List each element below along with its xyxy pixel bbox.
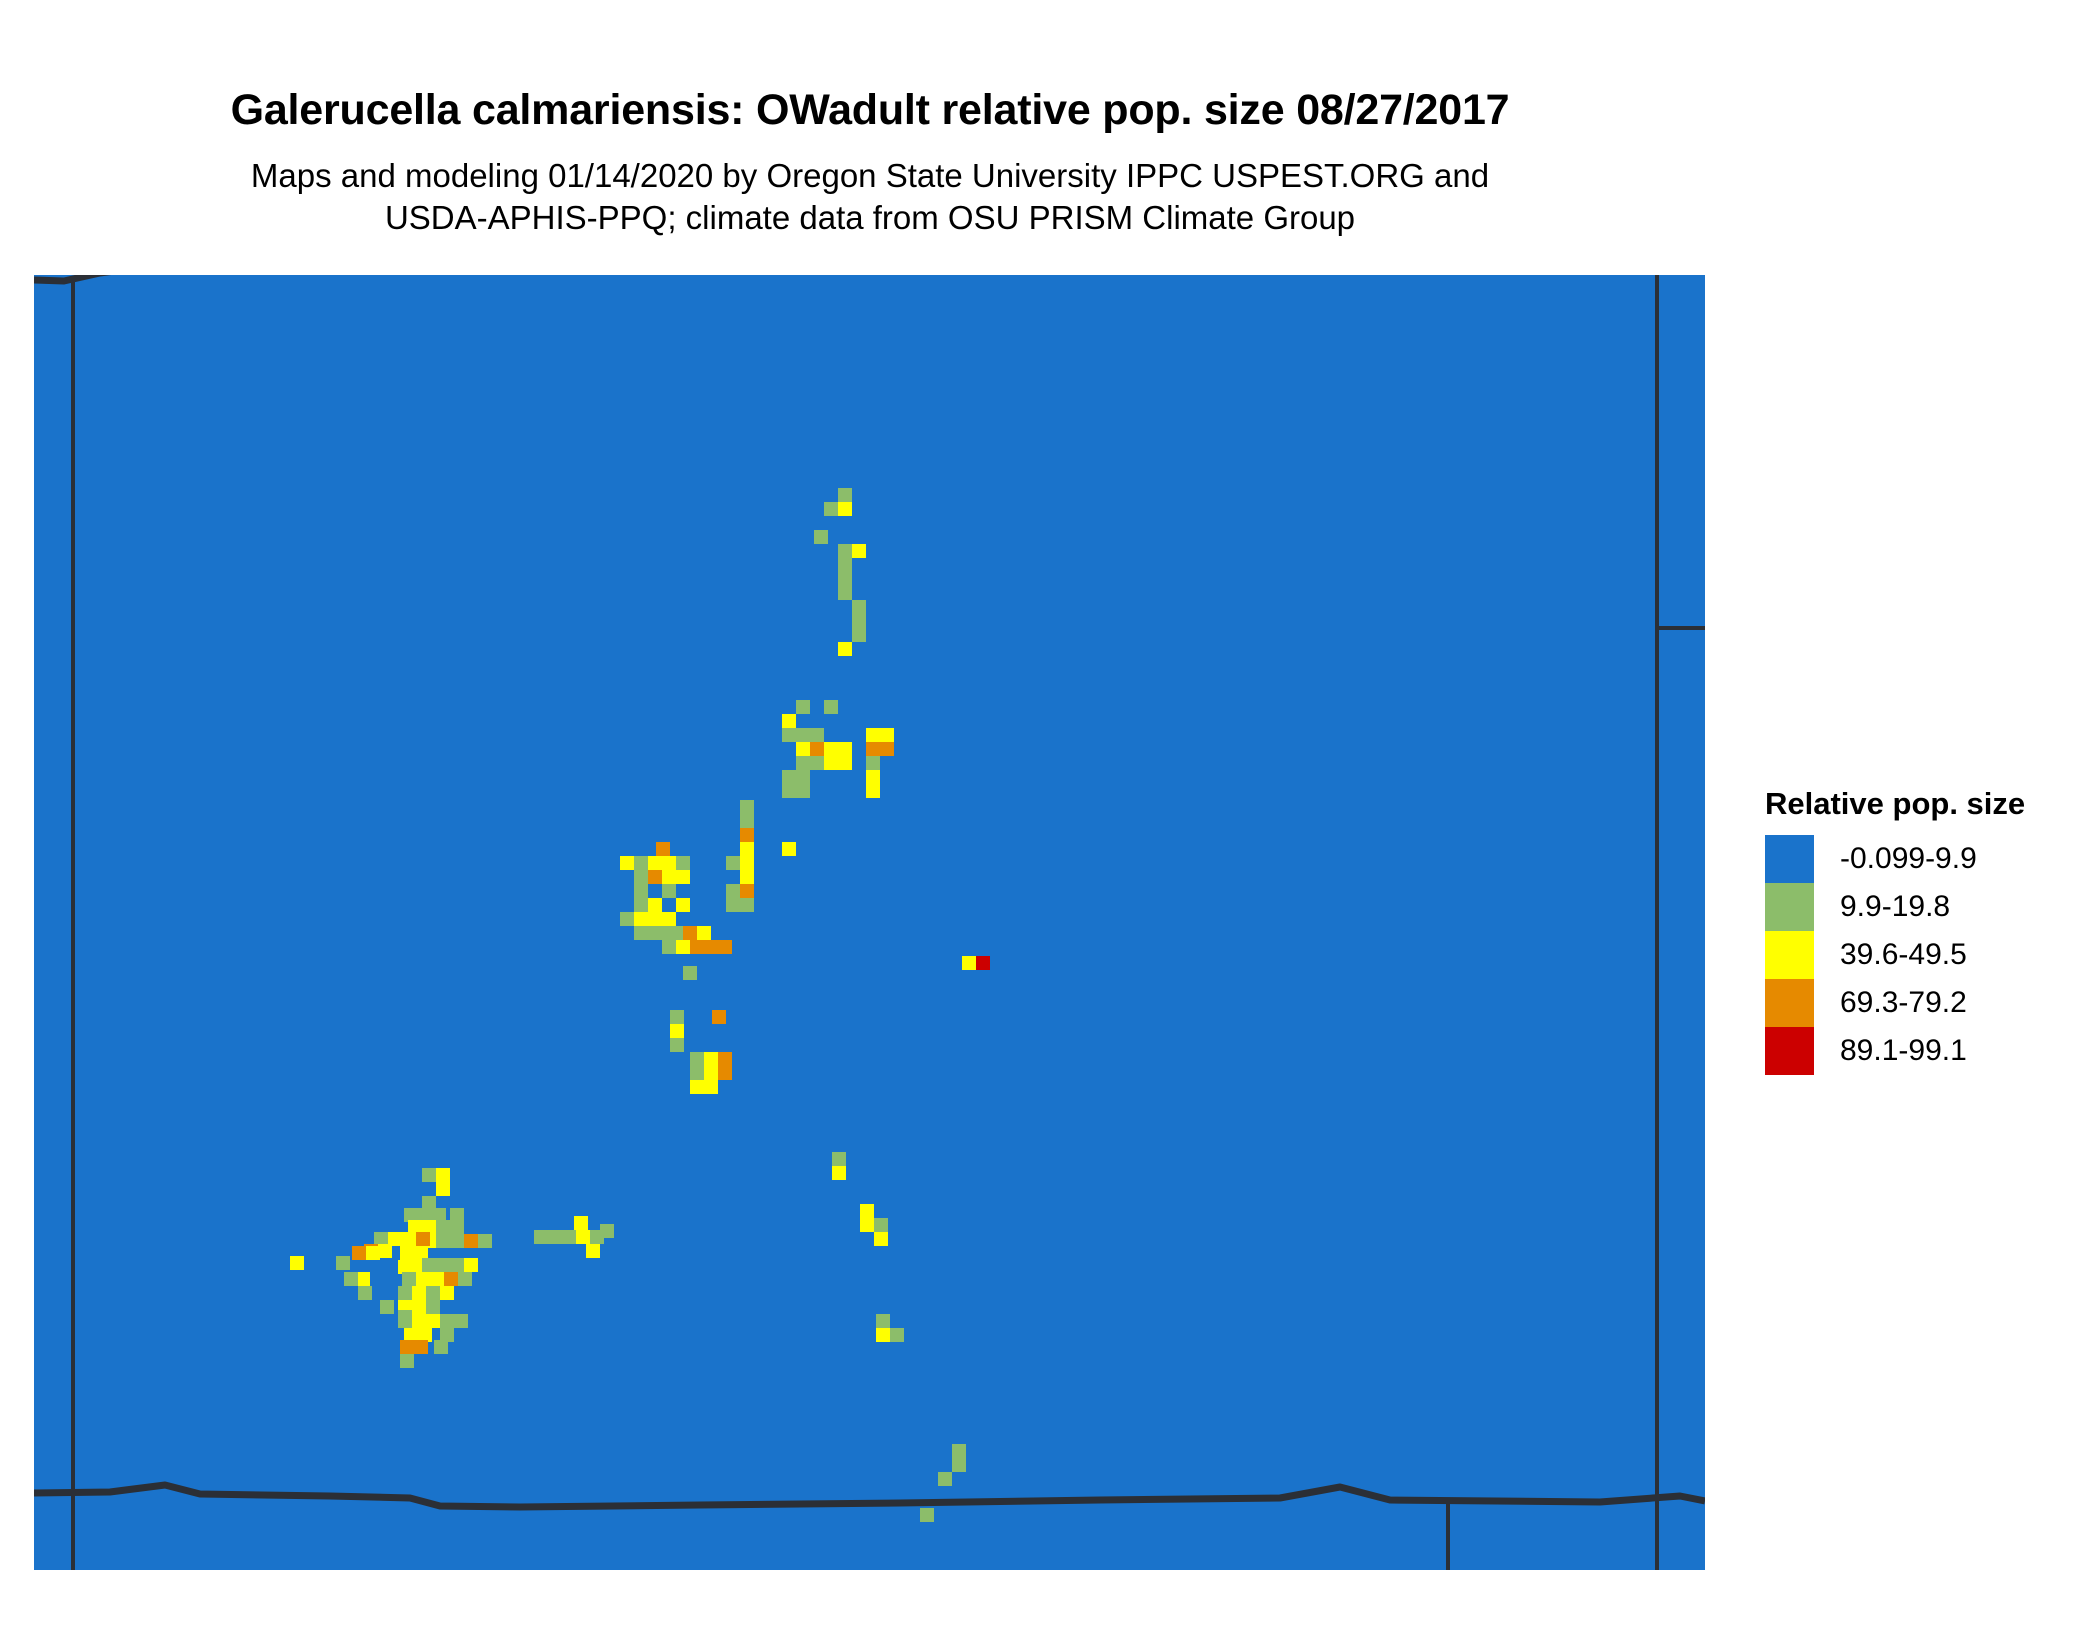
raster-cell: [838, 756, 852, 770]
raster-cell: [590, 1230, 604, 1244]
raster-cell: [838, 488, 852, 502]
raster-cell: [704, 1066, 718, 1080]
subtitle-line-1: Maps and modeling 01/14/2020 by Oregon S…: [0, 155, 1740, 197]
page-subtitle: Maps and modeling 01/14/2020 by Oregon S…: [0, 133, 1740, 239]
raster-cell: [726, 898, 740, 912]
raster-cell: [662, 940, 676, 954]
raster-cell: [810, 756, 824, 770]
subtitle-line-2: USDA-APHIS-PPQ; climate data from OSU PR…: [0, 197, 1740, 239]
raster-cell: [814, 530, 828, 544]
raster-cell: [712, 1010, 726, 1024]
raster-cell: [426, 1300, 440, 1314]
raster-cell: [866, 770, 880, 784]
raster-cell: [697, 926, 711, 940]
raster-cell: [824, 700, 838, 714]
raster-cell: [422, 1196, 436, 1210]
legend-rows: -0.099-9.99.9-19.839.6-49.569.3-79.289.1…: [1765, 835, 2085, 1075]
raster-cell: [962, 956, 976, 970]
raster-cell: [450, 1234, 464, 1248]
raster-cell: [690, 940, 704, 954]
raster-cell: [380, 1300, 394, 1314]
raster-cell: [336, 1256, 350, 1270]
legend-swatch: [1765, 883, 1814, 931]
raster-cell: [662, 884, 676, 898]
raster-cell: [356, 1272, 370, 1286]
legend-label: 39.6-49.5: [1840, 940, 1967, 970]
raster-cell: [782, 842, 796, 856]
legend-label: 69.3-79.2: [1840, 988, 1967, 1018]
raster-cell: [690, 1052, 704, 1066]
raster-cell: [880, 728, 894, 742]
raster-cell: [366, 1246, 380, 1260]
raster-cell: [740, 800, 754, 814]
raster-cell: [838, 544, 852, 558]
raster-cell: [920, 1508, 934, 1522]
raster-cell: [676, 940, 690, 954]
raster-cell: [440, 1314, 454, 1328]
raster-cell: [344, 1272, 358, 1286]
raster-cell: [398, 1310, 412, 1324]
raster-cell: [718, 1052, 732, 1066]
raster-cell: [838, 586, 852, 600]
raster-cell: [704, 1080, 718, 1094]
raster-cell: [418, 1208, 432, 1222]
raster-cell: [796, 784, 810, 798]
raster-cell: [718, 940, 732, 954]
raster-cell: [852, 544, 866, 558]
raster-cell: [574, 1216, 588, 1230]
raster-cell: [634, 870, 648, 884]
map-raster-layer: [34, 275, 1705, 1570]
raster-cell: [876, 1314, 890, 1328]
raster-cell: [852, 628, 866, 642]
raster-cell: [418, 1328, 432, 1342]
raster-cell: [430, 1272, 444, 1286]
raster-cell: [398, 1260, 412, 1274]
legend-label: -0.099-9.9: [1840, 844, 1977, 874]
raster-cell: [690, 1066, 704, 1080]
raster-cell: [866, 756, 880, 770]
raster-cell: [890, 1328, 904, 1342]
raster-cell: [388, 1232, 402, 1246]
raster-cell: [548, 1230, 562, 1244]
raster-cell: [662, 926, 676, 940]
raster-cell: [866, 784, 880, 798]
legend-label: 9.9-19.8: [1840, 892, 1950, 922]
raster-cell: [676, 898, 690, 912]
raster-cell: [426, 1314, 440, 1328]
legend-swatch: [1765, 931, 1814, 979]
raster-cell: [740, 884, 754, 898]
raster-cell: [454, 1314, 468, 1328]
raster-cell: [404, 1208, 418, 1222]
raster-cell: [796, 770, 810, 784]
raster-cell: [648, 856, 662, 870]
raster-cell: [838, 558, 852, 572]
raster-cell: [860, 1218, 874, 1232]
raster-cell: [620, 912, 634, 926]
raster-cell: [398, 1286, 412, 1300]
raster-cell: [352, 1246, 366, 1260]
raster-cell: [824, 742, 838, 756]
raster-cell: [414, 1246, 428, 1260]
raster-cell: [852, 614, 866, 628]
raster-cell: [782, 784, 796, 798]
raster-cell: [450, 1220, 464, 1234]
raster-cell: [676, 856, 690, 870]
raster-cell: [422, 1258, 436, 1272]
raster-cell: [838, 742, 852, 756]
raster-cell: [866, 742, 880, 756]
raster-cell: [740, 870, 754, 884]
raster-cell: [796, 700, 810, 714]
raster-cell: [704, 1052, 718, 1066]
raster-cell: [670, 1010, 684, 1024]
raster-cell: [450, 1258, 464, 1272]
raster-cell: [740, 898, 754, 912]
legend-item[interactable]: -0.099-9.9: [1765, 835, 2085, 883]
raster-cell: [440, 1328, 454, 1342]
raster-cell: [824, 756, 838, 770]
legend-item[interactable]: 89.1-99.1: [1765, 1027, 2085, 1075]
raster-cell: [378, 1244, 392, 1258]
raster-cell: [412, 1300, 426, 1314]
raster-cell: [404, 1328, 418, 1342]
raster-cell: [876, 1328, 890, 1342]
raster-cell: [648, 926, 662, 940]
raster-cell: [782, 714, 796, 728]
raster-cell: [866, 728, 880, 742]
raster-cell: [432, 1208, 446, 1222]
raster-cell: [740, 814, 754, 828]
raster-cell: [586, 1244, 600, 1258]
raster-cell: [976, 956, 990, 970]
raster-cell: [464, 1234, 478, 1248]
raster-cell: [634, 884, 648, 898]
map-panel[interactable]: [34, 275, 1705, 1570]
raster-cell: [662, 856, 676, 870]
raster-cell: [416, 1272, 430, 1286]
raster-cell: [690, 1080, 704, 1094]
raster-cell: [796, 756, 810, 770]
legend-item[interactable]: 39.6-49.5: [1765, 931, 2085, 979]
legend-swatch: [1765, 835, 1814, 883]
raster-cell: [796, 742, 810, 756]
legend-title: Relative pop. size: [1765, 786, 2085, 822]
raster-cell: [414, 1340, 428, 1354]
raster-cell: [874, 1232, 888, 1246]
legend-item[interactable]: 69.3-79.2: [1765, 979, 2085, 1027]
raster-cell: [880, 742, 894, 756]
raster-cell: [634, 912, 648, 926]
raster-cell: [796, 728, 810, 742]
raster-cell: [422, 1220, 436, 1234]
raster-cell: [670, 1038, 684, 1052]
raster-cell: [874, 1218, 888, 1232]
raster-cell: [656, 842, 670, 856]
raster-cell: [408, 1220, 422, 1234]
raster-cell: [444, 1272, 458, 1286]
raster-cell: [832, 1166, 846, 1180]
raster-cell: [412, 1286, 426, 1300]
raster-cell: [620, 856, 634, 870]
legend-item[interactable]: 9.9-19.8: [1765, 883, 2085, 931]
raster-cell: [670, 1024, 684, 1038]
raster-cell: [562, 1230, 576, 1244]
raster-cell: [952, 1458, 966, 1472]
raster-cell: [400, 1354, 414, 1368]
raster-cell: [838, 642, 852, 656]
raster-cell: [726, 856, 740, 870]
raster-cell: [450, 1208, 464, 1222]
raster-cell: [576, 1230, 590, 1244]
raster-cell: [400, 1246, 414, 1260]
raster-cell: [860, 1204, 874, 1218]
raster-cell: [740, 828, 754, 842]
raster-cell: [782, 770, 796, 784]
raster-cell: [648, 912, 662, 926]
raster-cell: [478, 1234, 492, 1248]
raster-cell: [412, 1314, 426, 1328]
raster-cell: [676, 870, 690, 884]
raster-cell: [740, 842, 754, 856]
raster-cell: [782, 728, 796, 742]
raster-cell: [464, 1258, 478, 1272]
raster-cell: [662, 870, 676, 884]
raster-cell: [358, 1286, 372, 1300]
legend-swatch: [1765, 979, 1814, 1027]
raster-cell: [634, 898, 648, 912]
title-block: Galerucella calmariensis: OWadult relati…: [0, 0, 1740, 240]
raster-cell: [402, 1232, 416, 1246]
legend-swatch: [1765, 1027, 1814, 1075]
raster-cell: [740, 856, 754, 870]
raster-cell: [426, 1286, 440, 1300]
raster-cell: [810, 742, 824, 756]
raster-cell: [648, 870, 662, 884]
raster-cell: [662, 912, 676, 926]
raster-cell: [683, 966, 697, 980]
raster-cell: [704, 940, 718, 954]
raster-cell: [534, 1230, 548, 1244]
raster-cell: [436, 1234, 450, 1248]
raster-cell: [374, 1232, 388, 1246]
legend: Relative pop. size -0.099-9.99.9-19.839.…: [1765, 786, 2085, 1075]
raster-cell: [436, 1168, 450, 1182]
raster-cell: [458, 1272, 472, 1286]
raster-cell: [416, 1232, 430, 1246]
raster-cell: [824, 502, 838, 516]
raster-cell: [434, 1340, 448, 1354]
raster-cell: [402, 1272, 416, 1286]
raster-cell: [440, 1286, 454, 1300]
raster-cell: [400, 1340, 414, 1354]
raster-cell: [726, 884, 740, 898]
raster-cell: [952, 1444, 966, 1458]
raster-cell: [938, 1472, 952, 1486]
legend-label: 89.1-99.1: [1840, 1036, 1967, 1066]
raster-cell: [648, 898, 662, 912]
raster-cell: [422, 1168, 436, 1182]
raster-cell: [810, 728, 824, 742]
page-title: Galerucella calmariensis: OWadult relati…: [0, 0, 1740, 133]
raster-cell: [838, 572, 852, 586]
raster-cell: [436, 1220, 450, 1234]
raster-cell: [634, 926, 648, 940]
raster-cell: [436, 1258, 450, 1272]
raster-cell: [838, 502, 852, 516]
raster-cell: [290, 1256, 304, 1270]
raster-cell: [683, 926, 697, 940]
raster-cell: [436, 1182, 450, 1196]
raster-cell: [852, 600, 866, 614]
map-background: [34, 275, 1705, 1570]
raster-cell: [832, 1152, 846, 1166]
raster-cell: [634, 856, 648, 870]
raster-cell: [718, 1066, 732, 1080]
